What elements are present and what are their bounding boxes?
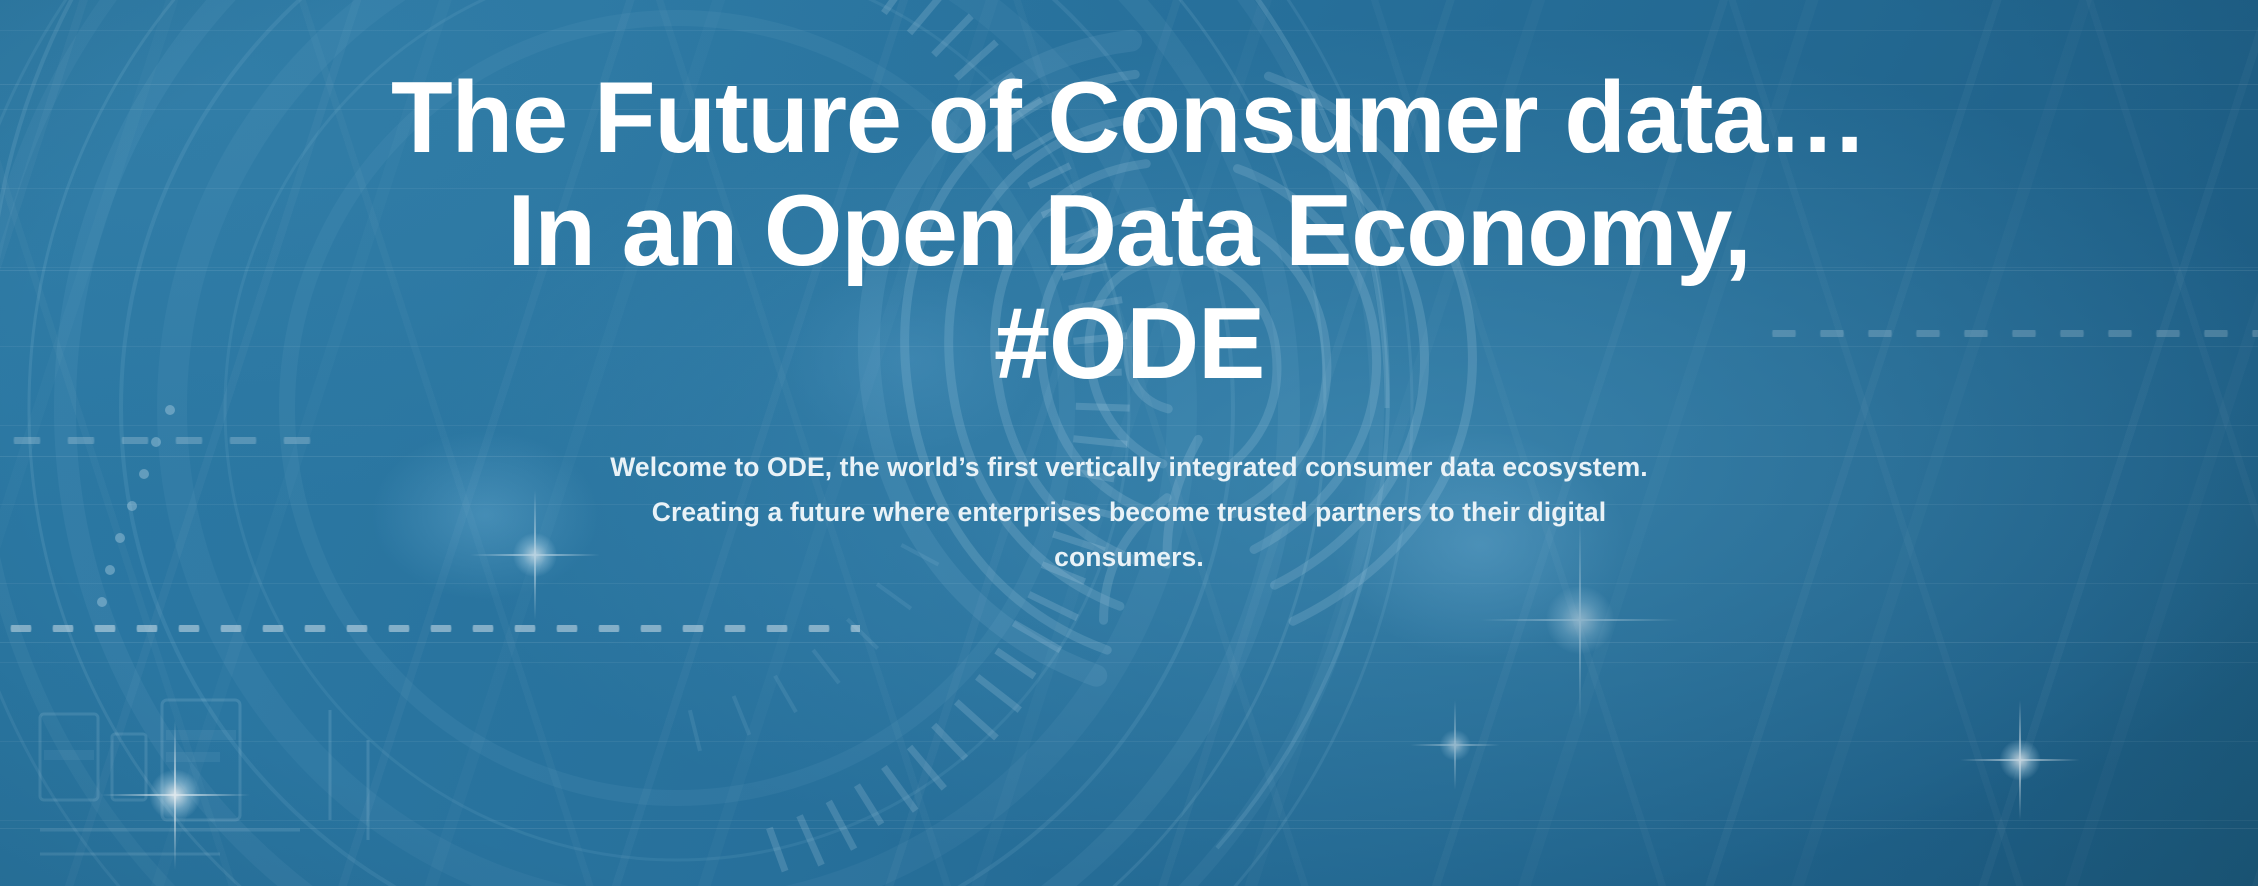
headline-line-1: The Future of Consumer data… (24, 62, 2234, 175)
hero-banner: The Future of Consumer data… In an Open … (0, 0, 2258, 886)
headline-line-2: In an Open Data Economy, (24, 175, 2234, 288)
hero-subtitle: Welcome to ODE, the world’s first vertic… (539, 445, 1719, 580)
subtitle-line-1: Welcome to ODE, the world’s first vertic… (539, 445, 1719, 490)
subtitle-line-3: consumers. (539, 535, 1719, 580)
headline-line-3: #ODE (24, 288, 2234, 401)
subtitle-line-2: Creating a future where enterprises beco… (539, 490, 1719, 535)
hero-content: The Future of Consumer data… In an Open … (0, 0, 2258, 886)
page-title: The Future of Consumer data… In an Open … (24, 62, 2234, 401)
